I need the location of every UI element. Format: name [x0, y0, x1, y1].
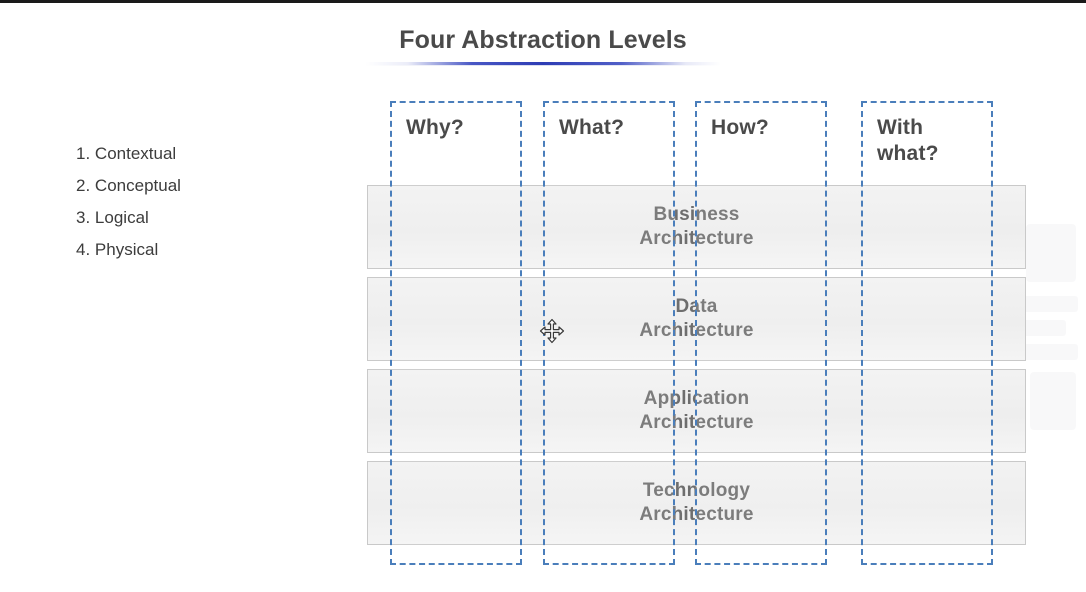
- slide-title-block: Four Abstraction Levels: [365, 24, 721, 66]
- row-label: Data Architecture: [639, 295, 753, 343]
- question-column-with-what[interactable]: With what?: [861, 101, 993, 565]
- row-label: Application Architecture: [639, 387, 753, 435]
- list-item: 3. Logical: [76, 202, 306, 234]
- page-title: Four Abstraction Levels: [365, 24, 721, 56]
- architecture-row-technology[interactable]: Technology Architecture: [367, 461, 1026, 545]
- list-item-label: Physical: [95, 240, 158, 259]
- column-label: With what?: [877, 115, 989, 167]
- list-item-label: Logical: [95, 208, 149, 227]
- list-item-number: 2.: [76, 176, 90, 195]
- list-item: 4. Physical: [76, 234, 306, 266]
- column-label: Why?: [406, 115, 518, 141]
- list-item-label: Contextual: [95, 144, 176, 163]
- move-cursor-icon: [539, 318, 565, 344]
- question-column-why[interactable]: Why?: [390, 101, 522, 565]
- architecture-matrix: Business Architecture Data Architecture …: [0, 0, 1086, 592]
- row-label: Business Architecture: [639, 203, 753, 251]
- list-item: 1. Contextual: [76, 138, 306, 170]
- architecture-row-data[interactable]: Data Architecture: [367, 277, 1026, 361]
- list-item-number: 1.: [76, 144, 90, 163]
- column-label: How?: [711, 115, 823, 141]
- list-item: 2. Conceptual: [76, 170, 306, 202]
- question-column-how[interactable]: How?: [695, 101, 827, 565]
- architecture-row-application[interactable]: Application Architecture: [367, 369, 1026, 453]
- column-label: What?: [559, 115, 671, 141]
- architecture-row-business[interactable]: Business Architecture: [367, 185, 1026, 269]
- row-label: Technology Architecture: [639, 479, 753, 527]
- abstraction-levels-list: 1. Contextual 2. Conceptual 3. Logical 4…: [76, 138, 306, 266]
- top-edge-bar: [0, 0, 1086, 3]
- title-underline-soft: [365, 65, 721, 66]
- list-item-number: 4.: [76, 240, 90, 259]
- list-item-label: Conceptual: [95, 176, 181, 195]
- watermark: [1020, 200, 1086, 520]
- list-item-number: 3.: [76, 208, 90, 227]
